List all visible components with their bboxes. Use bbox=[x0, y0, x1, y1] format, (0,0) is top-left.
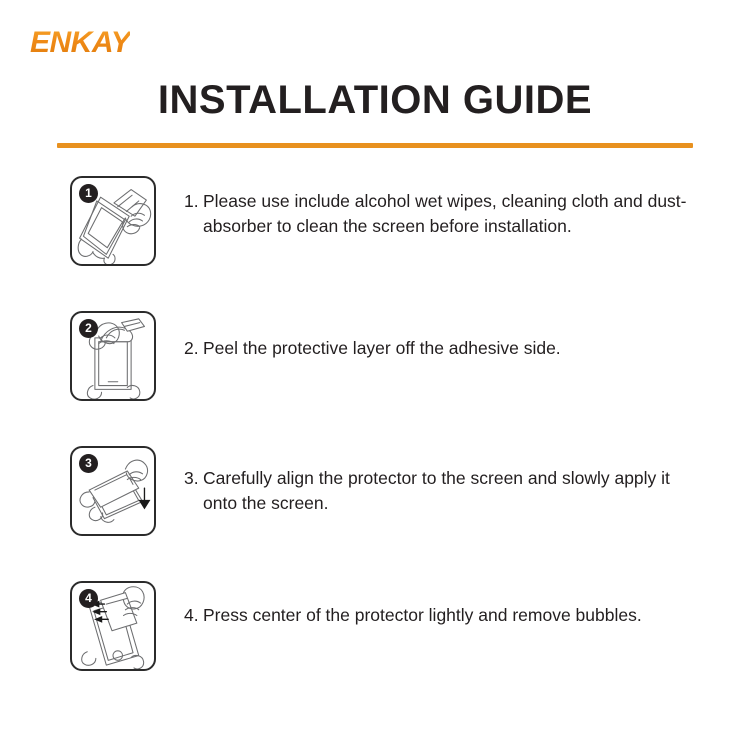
page-title: INSTALLATION GUIDE bbox=[0, 76, 750, 124]
step-2-description: Peel the protective layer off the adhesi… bbox=[203, 336, 698, 361]
step-4-description: Press center of the protector lightly an… bbox=[203, 603, 698, 628]
step-item-1: 1 1. Please use include alcohol wet wipe… bbox=[0, 176, 750, 266]
step-item-3: 3 3. Carefully align the protector to th… bbox=[0, 446, 750, 536]
step-item-4: 4 4. Press center of the protector light… bbox=[0, 581, 750, 671]
title-divider bbox=[57, 143, 693, 148]
step-3-text-block: 3. Carefully align the protector to the … bbox=[184, 466, 750, 516]
step-1-number: 1. bbox=[184, 189, 203, 214]
step-4-badge: 4 bbox=[79, 589, 98, 608]
step-1-badge: 1 bbox=[79, 184, 98, 203]
step-2-badge: 2 bbox=[79, 319, 98, 338]
brand-logo: ENKAY ENKAY bbox=[30, 25, 190, 61]
step-3-figure: 3 bbox=[70, 446, 156, 536]
step-4-number: 4. bbox=[184, 603, 203, 628]
step-1-description: Please use include alcohol wet wipes, cl… bbox=[203, 189, 698, 239]
step-2-figure: 2 bbox=[70, 311, 156, 401]
step-3-number: 3. bbox=[184, 466, 203, 491]
step-3-description: Carefully align the protector to the scr… bbox=[203, 466, 698, 516]
step-4-text-block: 4. Press center of the protector lightly… bbox=[184, 603, 750, 628]
steps-list: 1 1. Please use include alcohol wet wipe… bbox=[0, 176, 750, 671]
brand-logo-text: ENKAY bbox=[30, 25, 130, 61]
step-item-2: 2 2. Peel the protective layer off the a… bbox=[0, 311, 750, 401]
step-4-figure: 4 bbox=[70, 581, 156, 671]
step-3-badge: 3 bbox=[79, 454, 98, 473]
step-2-number: 2. bbox=[184, 336, 203, 361]
step-1-text-block: 1. Please use include alcohol wet wipes,… bbox=[184, 189, 750, 239]
step-2-text-block: 2. Peel the protective layer off the adh… bbox=[184, 336, 750, 361]
step-1-figure: 1 bbox=[70, 176, 156, 266]
